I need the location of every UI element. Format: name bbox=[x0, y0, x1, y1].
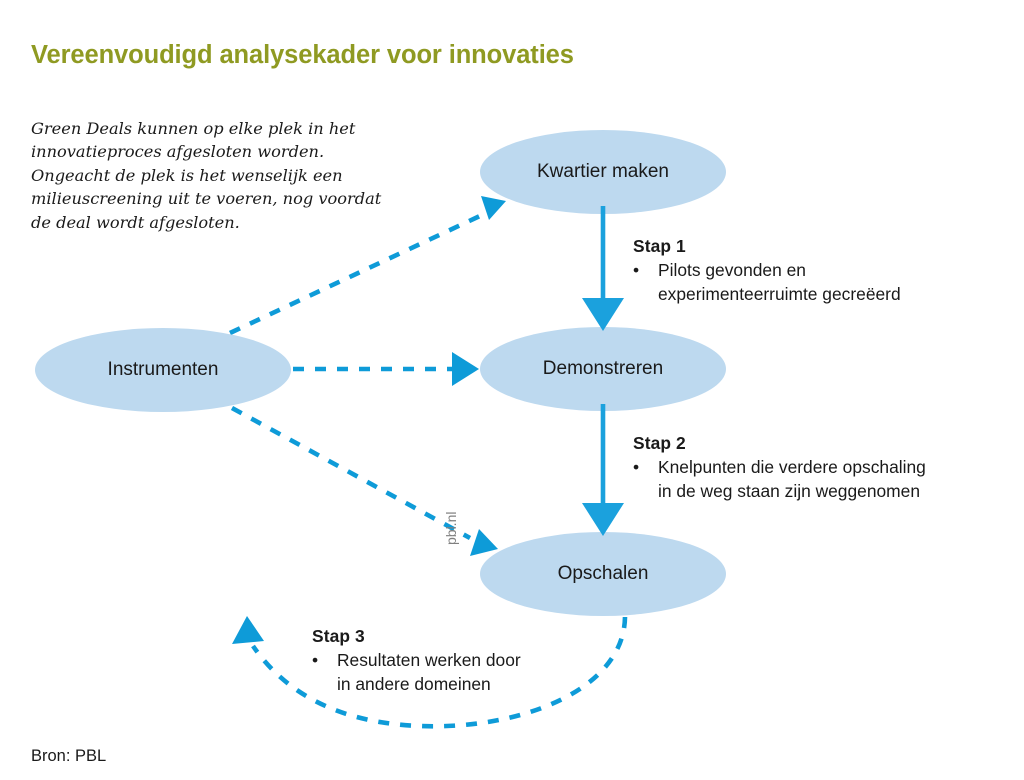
arrowhead bbox=[452, 352, 479, 386]
edge-instrumenten-kwartier bbox=[230, 196, 506, 333]
bullet-line: in andere domeinen bbox=[337, 672, 572, 696]
arrowhead bbox=[582, 503, 624, 536]
step-3-bullet: • Resultaten werken door in andere domei… bbox=[312, 648, 572, 696]
edge-instrumenten-demonstreren bbox=[293, 352, 479, 386]
bullet-marker-icon: • bbox=[312, 648, 337, 696]
edge-kwartier-demonstreren bbox=[582, 206, 624, 331]
step-2-title: Stap 2 bbox=[633, 431, 978, 455]
arrowhead bbox=[481, 196, 506, 220]
node-label-instrumenten: Instrumenten bbox=[108, 359, 219, 381]
arrowhead bbox=[582, 298, 624, 331]
annotation-step-2: Stap 2 • Knelpunten die verdere opschali… bbox=[633, 431, 978, 503]
bullet-line: Pilots gevonden en bbox=[658, 258, 963, 282]
step-1-title: Stap 1 bbox=[633, 234, 963, 258]
step-3-title: Stap 3 bbox=[312, 624, 572, 648]
arrowhead bbox=[232, 616, 264, 644]
step-1-bullet-text: Pilots gevonden en experimenteerruimte g… bbox=[658, 258, 963, 306]
watermark-pbl: pbl.nl bbox=[443, 512, 459, 545]
bullet-line: experimenteerruimte gecreëerd bbox=[658, 282, 963, 306]
annotation-step-1: Stap 1 • Pilots gevonden en experimentee… bbox=[633, 234, 963, 306]
node-label-opschalen: Opschalen bbox=[558, 563, 649, 585]
step-1-bullet: • Pilots gevonden en experimenteerruimte… bbox=[633, 258, 963, 306]
arrowhead bbox=[470, 529, 498, 556]
bullet-marker-icon: • bbox=[633, 258, 658, 306]
edge-demonstreren-opschalen bbox=[582, 404, 624, 536]
source-label: Bron: PBL bbox=[31, 747, 106, 766]
annotation-step-3: Stap 3 • Resultaten werken door in ander… bbox=[312, 624, 572, 696]
bullet-line: Knelpunten die verdere opschaling bbox=[658, 455, 978, 479]
edge-line bbox=[230, 215, 482, 333]
bullet-line: in de weg staan zijn weggenomen bbox=[658, 479, 978, 503]
edge-line bbox=[232, 408, 470, 538]
bullet-marker-icon: • bbox=[633, 455, 658, 503]
step-2-bullet: • Knelpunten die verdere opschaling in d… bbox=[633, 455, 978, 503]
step-3-bullet-text: Resultaten werken door in andere domeine… bbox=[337, 648, 572, 696]
node-label-kwartier-maken: Kwartier maken bbox=[537, 161, 669, 183]
step-2-bullet-text: Knelpunten die verdere opschaling in de … bbox=[658, 455, 978, 503]
bullet-line: Resultaten werken door bbox=[337, 648, 572, 672]
diagram-page: Vereenvoudigd analysekader voor innovati… bbox=[0, 0, 1024, 780]
node-label-demonstreren: Demonstreren bbox=[543, 358, 663, 380]
